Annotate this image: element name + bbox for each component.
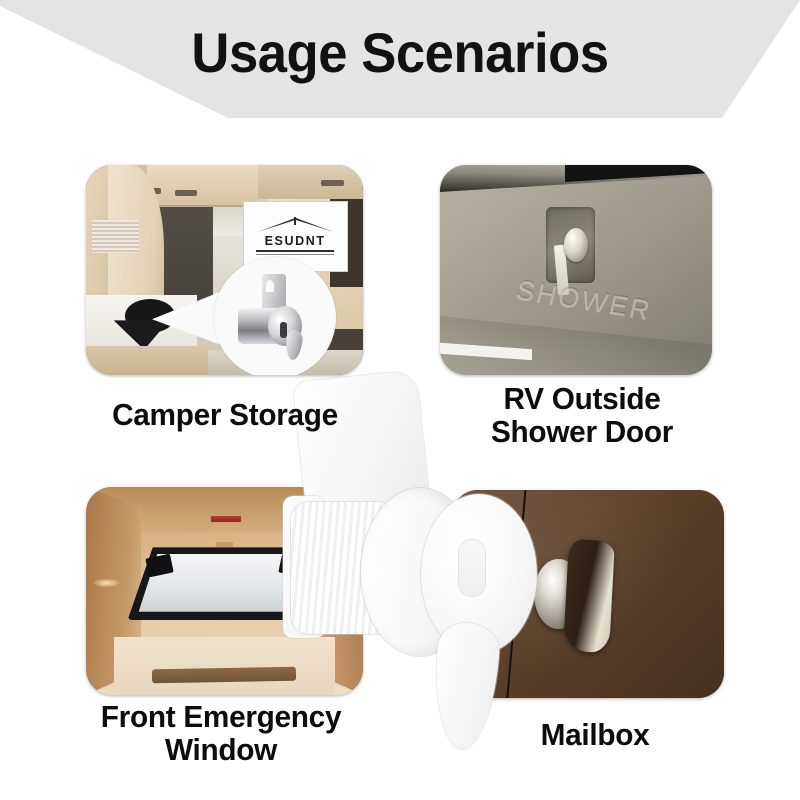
cam-lock-icon	[232, 272, 318, 364]
infographic-page: Usage Scenarios	[0, 0, 800, 800]
brand-name: ESUDNT	[265, 235, 326, 248]
caption-line: Front Emergency	[63, 700, 380, 733]
tile-mailbox[interactable]	[452, 490, 724, 698]
shower-door-photo: SHOWER	[440, 165, 712, 375]
bed-cushion	[152, 667, 296, 683]
magnifier-callout	[214, 257, 336, 375]
tile-rv-outside-shower-door[interactable]: SHOWER	[440, 165, 712, 375]
camper-storage-photo: ESUDNT	[86, 165, 363, 375]
caption-line: Mailbox	[475, 718, 715, 751]
logo-divider-thin	[256, 254, 334, 255]
mailbox-cam-latch	[563, 539, 615, 654]
cabinet-handle-icon	[321, 180, 343, 186]
caption-rv-outside-shower-door: RV Outside Shower Door	[438, 382, 726, 449]
shower-door-lock-icon	[564, 228, 588, 262]
caption-line: RV Outside	[438, 382, 726, 415]
caption-camper-storage: Camper Storage	[67, 398, 384, 431]
mailbox-photo	[452, 490, 724, 698]
cab-light-left	[94, 579, 119, 587]
emergency-window-photo	[86, 487, 363, 695]
tile-camper-storage[interactable]: ESUDNT	[86, 165, 363, 375]
cab-light-right	[330, 581, 352, 589]
cab-over-bed	[114, 637, 336, 695]
window-clip	[216, 542, 233, 547]
cabinet-handle-icon	[175, 190, 197, 196]
caption-line: Camper Storage	[67, 398, 384, 431]
caption-line: Shower Door	[438, 415, 726, 448]
rv-overhead-cabinet-right	[258, 165, 363, 199]
lock-lever	[284, 329, 303, 361]
roof-spire-icon	[294, 217, 296, 225]
rv-lower-cabinet	[86, 346, 213, 375]
caption-mailbox: Mailbox	[475, 718, 715, 751]
caption-front-emergency-window: Front Emergency Window	[63, 700, 380, 767]
callout-circle	[214, 257, 336, 375]
house-roof-icon	[258, 218, 332, 234]
emergency-release-strip	[211, 516, 241, 522]
rv-window-blind	[92, 220, 139, 254]
page-title: Usage Scenarios	[24, 0, 776, 104]
logo-divider	[256, 250, 334, 252]
tile-front-emergency-window[interactable]	[86, 487, 363, 695]
caption-line: Window	[63, 733, 380, 766]
